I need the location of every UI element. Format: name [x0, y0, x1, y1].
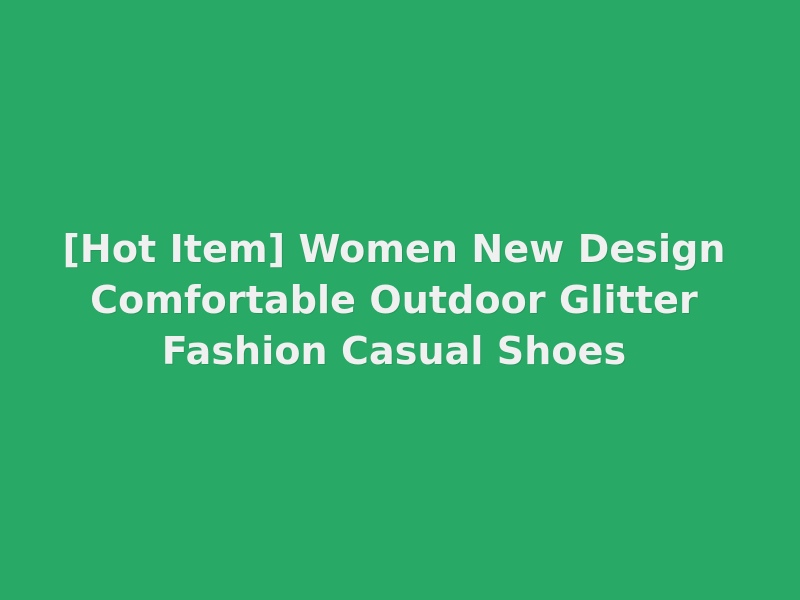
product-placeholder-card: [Hot Item] Women New Design Comfortable …	[0, 0, 800, 600]
product-title: [Hot Item] Women New Design Comfortable …	[60, 224, 728, 377]
product-title-block: [Hot Item] Women New Design Comfortable …	[60, 224, 728, 377]
